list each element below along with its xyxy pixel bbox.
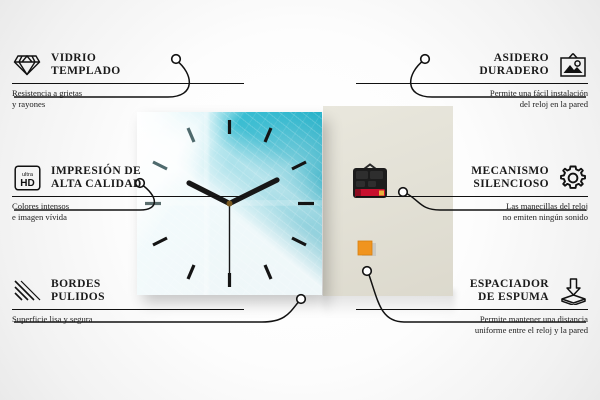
feature-heading: ESPACIADOR DE ESPUMA — [356, 276, 588, 306]
feature-heading: BORDES PULIDOS — [12, 276, 244, 306]
feature-title: IMPRESIÓN DE ALTA CALIDAD — [51, 165, 142, 192]
feature-title: ESPACIADOR DE ESPUMA — [470, 278, 549, 305]
diamond-icon — [12, 50, 42, 80]
feature-description: Las manecillas del reloj no emiten ningú… — [356, 201, 588, 222]
feature-description: Permite mantener una distancia uniforme … — [356, 314, 588, 335]
feature-description: Colores intensos e imagen vívida — [12, 201, 244, 222]
feature-title: ASIDERO DURADERO — [479, 52, 549, 79]
feature-asidero-duradero: ASIDERO DURADERO Permite una fácil insta… — [356, 50, 588, 109]
feature-heading: ultra HD IMPRESIÓN DE ALTA CALIDAD — [12, 163, 244, 193]
foam-spacer-piece — [357, 240, 377, 259]
feature-title: BORDES PULIDOS — [51, 278, 105, 305]
feature-description: Resistencia a grietas y rayones — [12, 88, 244, 109]
feature-heading: ASIDERO DURADERO — [356, 50, 588, 80]
feature-mecanismo-silencioso: MECANISMO SILENCIOSO Las manecillas del … — [356, 163, 588, 222]
feature-heading: VIDRIO TEMPLADO — [12, 50, 244, 80]
divider — [12, 196, 244, 197]
feature-title: MECANISMO SILENCIOSO — [471, 165, 549, 192]
divider — [356, 196, 588, 197]
svg-text:HD: HD — [20, 178, 34, 189]
feature-bordes-pulidos: BORDES PULIDOS Superficie lisa y segura — [12, 276, 244, 325]
picture-hanger-icon — [558, 50, 588, 80]
gear-icon — [558, 163, 588, 193]
divider — [356, 309, 588, 310]
ultra-hd-icon: ultra HD — [12, 163, 42, 193]
feature-heading: MECANISMO SILENCIOSO — [356, 163, 588, 193]
feature-impresion-alta-calidad: ultra HD IMPRESIÓN DE ALTA CALIDAD Color… — [12, 163, 244, 222]
feature-vidrio-templado: VIDRIO TEMPLADO Resistencia a grietas y … — [12, 50, 244, 109]
divider — [356, 83, 588, 84]
polished-edges-icon — [12, 276, 42, 306]
feature-title: VIDRIO TEMPLADO — [51, 52, 121, 79]
feature-description: Superficie lisa y segura — [12, 314, 244, 325]
divider — [12, 83, 244, 84]
feature-espaciador-de-espuma: ESPACIADOR DE ESPUMA Permite mantener un… — [356, 276, 588, 335]
foam-spacer-icon — [558, 276, 588, 306]
feature-description: Permite una fácil instalación del reloj … — [356, 88, 588, 109]
divider — [12, 309, 244, 310]
